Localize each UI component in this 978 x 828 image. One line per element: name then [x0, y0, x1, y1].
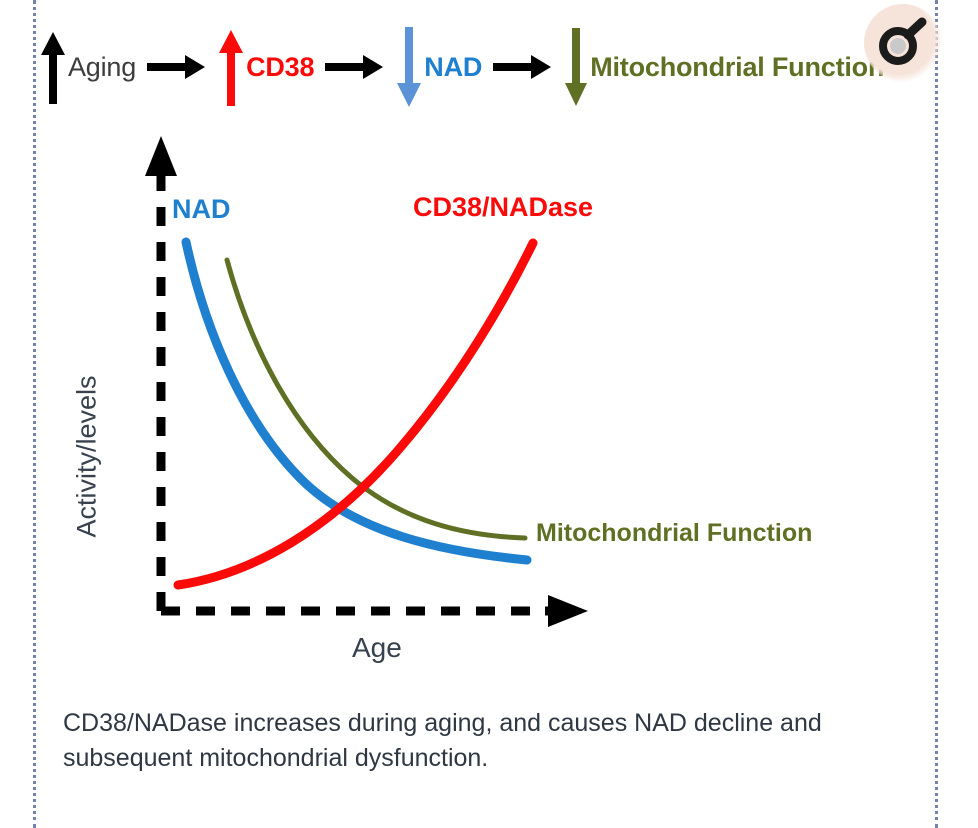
arrow-up-icon: [38, 28, 68, 106]
pathway-node-mitochondrial-function: Mitochondrial Function: [562, 26, 884, 108]
right-border-rail: [935, 0, 938, 828]
pathway-node-aging: Aging: [38, 28, 136, 106]
series-curve-cd38-nadase: [178, 243, 533, 585]
watermark-badge: [864, 4, 942, 82]
pathway-label-mitochondrial-function: Mitochondrial Function: [590, 54, 884, 81]
arrow-right-icon: [136, 52, 216, 82]
series-curve-nad: [186, 242, 527, 560]
x-axis-label: Age: [352, 634, 402, 662]
x-axis: [161, 595, 588, 627]
series-curve-mitochondrial-function: [227, 260, 525, 538]
magnifier-badge-icon: [875, 13, 931, 74]
arrow-right-icon: [314, 52, 394, 82]
figure-canvas: Aging CD38: [0, 0, 978, 828]
pathway-node-nad: NAD: [394, 25, 482, 109]
pathway-label-aging: Aging: [68, 54, 136, 81]
pathway-label-cd38: CD38: [246, 54, 314, 81]
series-label-cd38-nadase: CD38/NADase: [413, 194, 593, 221]
y-axis-label: Activity/levels: [74, 357, 101, 557]
arrow-up-icon: [216, 28, 246, 106]
pathway-diagram: Aging CD38: [38, 24, 938, 110]
pathway-node-cd38: CD38: [216, 28, 314, 106]
arrow-down-icon: [562, 26, 590, 108]
left-border-rail: [33, 0, 36, 828]
line-chart: [0, 0, 978, 828]
series-label-nad: NAD: [172, 196, 231, 223]
arrow-down-icon: [394, 25, 424, 109]
series-label-mitochondrial-function: Mitochondrial Function: [536, 521, 812, 546]
figure-caption: CD38/NADase increases during aging, and …: [63, 706, 923, 775]
arrow-right-icon: [482, 52, 562, 82]
pathway-label-nad: NAD: [424, 54, 482, 81]
